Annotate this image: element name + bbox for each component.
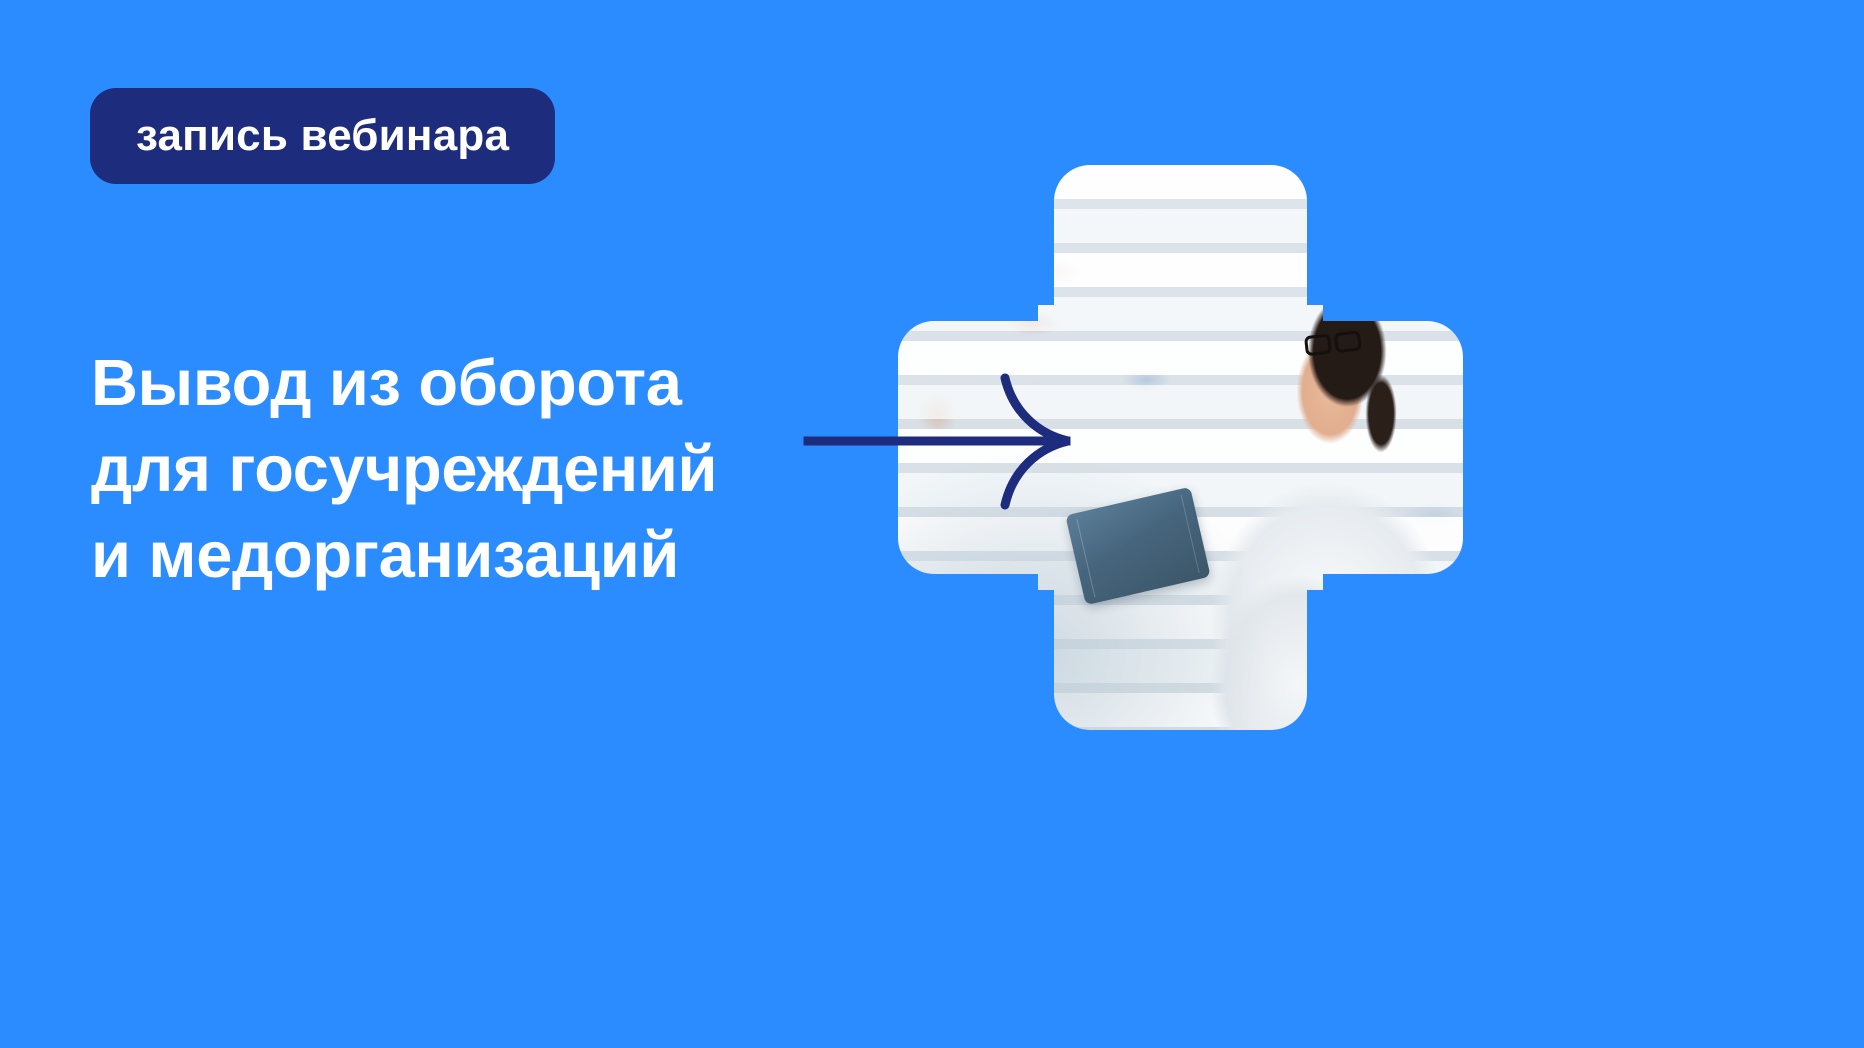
promo-banner: запись вебинара Вывод из оборота для гос… <box>0 0 1864 1048</box>
cross-center <box>1038 305 1323 590</box>
headline-line-1: Вывод из оборота <box>91 340 871 426</box>
tablet-device <box>1065 487 1210 590</box>
headline-line-2: для госучреждений <box>91 426 871 512</box>
webinar-recording-badge: запись вебинара <box>90 88 555 184</box>
page-title: Вывод из оборота для госучреждений и мед… <box>91 340 871 598</box>
badge-label: запись вебинара <box>136 114 509 158</box>
pharmacist-photo-alt: Фармацевт в белом халате и очках с планш… <box>898 165 899 166</box>
eyeglasses <box>1304 330 1323 358</box>
headline-line-3: и медорганизаций <box>91 512 871 598</box>
photo-layer <box>1038 305 1323 590</box>
pharmacist-photo: Фармацевт в белом халате и очках с планш… <box>898 165 1463 730</box>
